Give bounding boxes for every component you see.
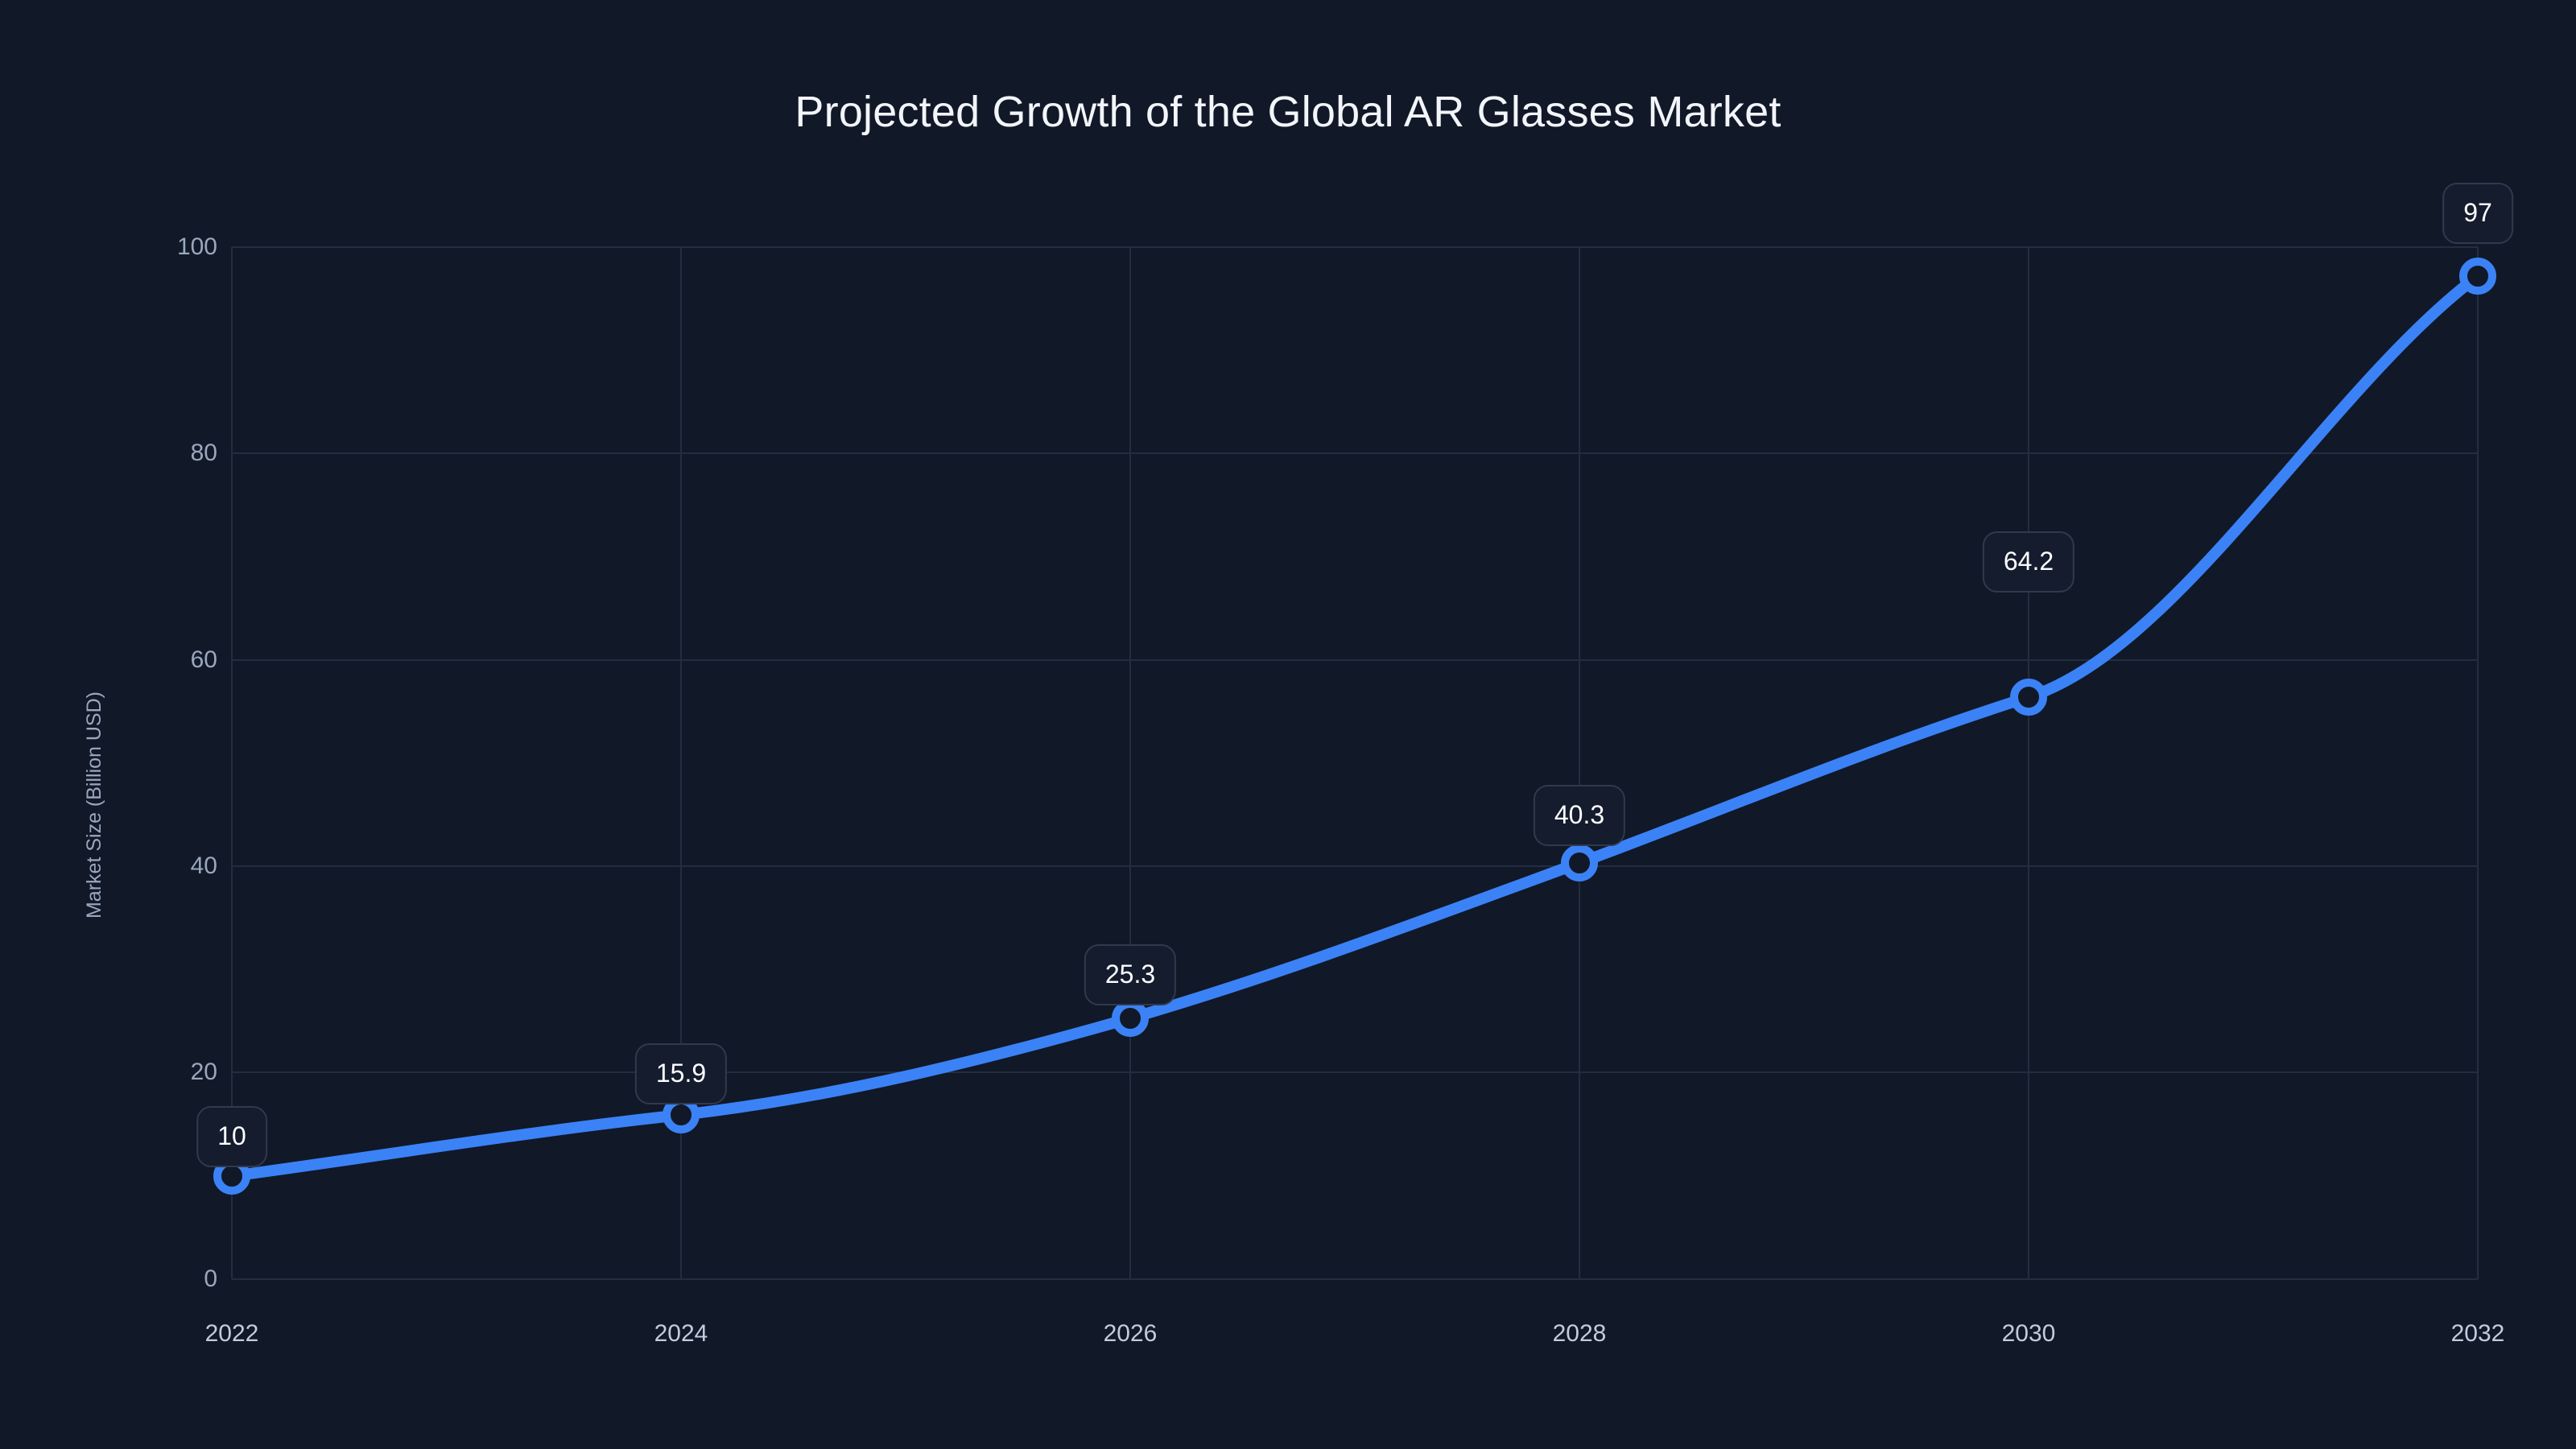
data-point-marker[interactable]: [1116, 1004, 1145, 1033]
data-point-label: 64.2: [1983, 531, 2074, 592]
x-axis-tick-label: 2024: [601, 1320, 762, 1348]
data-point-marker[interactable]: [2014, 683, 2043, 712]
x-axis-tick-label: 2030: [1948, 1320, 2109, 1348]
x-axis-tick-label: 2028: [1499, 1320, 1660, 1348]
data-point-marker[interactable]: [2463, 262, 2492, 291]
data-point-label: 15.9: [635, 1043, 727, 1104]
series-line: [232, 276, 2478, 1176]
x-axis-tick-label: 2022: [151, 1320, 312, 1348]
data-point-marker[interactable]: [667, 1100, 696, 1129]
data-point-marker[interactable]: [1565, 848, 1594, 877]
data-point-label: 25.3: [1084, 944, 1176, 1005]
data-point-label: 40.3: [1534, 785, 1625, 846]
x-axis-tick-label: 2032: [2397, 1320, 2558, 1348]
chart-canvas: Projected Growth of the Global AR Glasse…: [0, 0, 2576, 1449]
series-markers: [217, 262, 2492, 1191]
data-point-label: 97: [2442, 183, 2513, 244]
data-point-label: 10: [196, 1106, 267, 1167]
x-axis-tick-label: 2026: [1050, 1320, 1211, 1348]
plot-area: [0, 0, 2576, 1449]
